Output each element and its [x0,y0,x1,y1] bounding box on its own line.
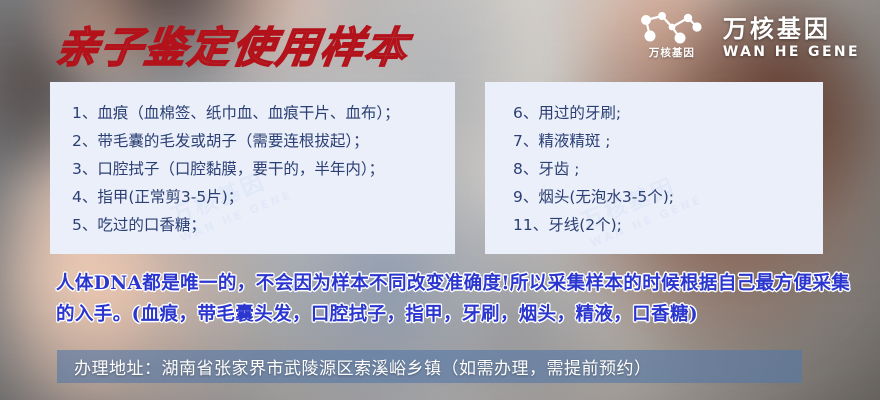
dna-note: 人体DNA都是唯一的，不会因为样本不同改变准确度!所以采集样本的时候根据自己最方… [56,268,868,330]
list-item: 6、用过的牙刷; [513,99,823,127]
address-text: 办理地址：湖南省张家界市武陵源区索溪峪乡镇（如需办理，需提前预约） [57,354,652,379]
page-title: 亲子鉴定使用样本 [53,14,414,75]
molecule-dna-nodes-icon: 万核基因 [635,12,709,64]
list-item: 9、烟头(无泡水3-5个); [513,183,823,211]
brand-name-cn: 万核基因 [723,16,860,42]
list-item: 8、牙齿 ; [513,155,823,183]
list-item: 5、吃过的口香糖； [72,211,455,239]
sample-list-right: 6、用过的牙刷; 7、精液精斑 ; 8、牙齿 ; 9、烟头(无泡水3-5个); … [485,82,823,239]
sample-list-panel-right: 万核基因 WAN HE GENE 6、用过的牙刷; 7、精液精斑 ; 8、牙齿 … [485,82,823,254]
sample-list-left: 1、血痕（血棉签、纸巾血、血痕干片、血布）； 2、带毛囊的毛发或胡子（需要连根拔… [50,82,455,239]
brand-logo: 万核基因 万核基因 WAN HE GENE [635,12,860,64]
list-item: 7、精液精斑 ; [513,127,823,155]
dna-note-line2: 的入手。(血痕，带毛囊头发，口腔拭子，指甲，牙刷，烟头，精液，口香糖) [56,299,868,330]
address-band: 办理地址：湖南省张家界市武陵源区索溪峪乡镇（如需办理，需提前预约） [57,350,802,383]
list-item: 1、血痕（血棉签、纸巾血、血痕干片、血布）； [72,99,455,127]
list-item: 4、指甲(正常剪3-5片)； [72,183,455,211]
list-item: 3、口腔拭子（口腔黏膜，要干的，半年内）； [72,155,455,183]
brand-name-en: WAN HE GENE [723,45,860,60]
poster-root: 亲子鉴定使用样本 [0,0,880,400]
brand-text: 万核基因 WAN HE GENE [723,16,860,60]
list-item: 11、牙线(2个); [513,211,823,239]
dna-note-line1: 人体DNA都是唯一的，不会因为样本不同改变准确度!所以采集样本的时候根据自己最方… [56,273,850,294]
list-item: 2、带毛囊的毛发或胡子（需要连根拔起）； [72,127,455,155]
logo-mark-caption: 万核基因 [635,45,709,60]
sample-list-panel-left: 万核基因 WAN HE GENE 1、血痕（血棉签、纸巾血、血痕干片、血布）； … [50,82,455,254]
